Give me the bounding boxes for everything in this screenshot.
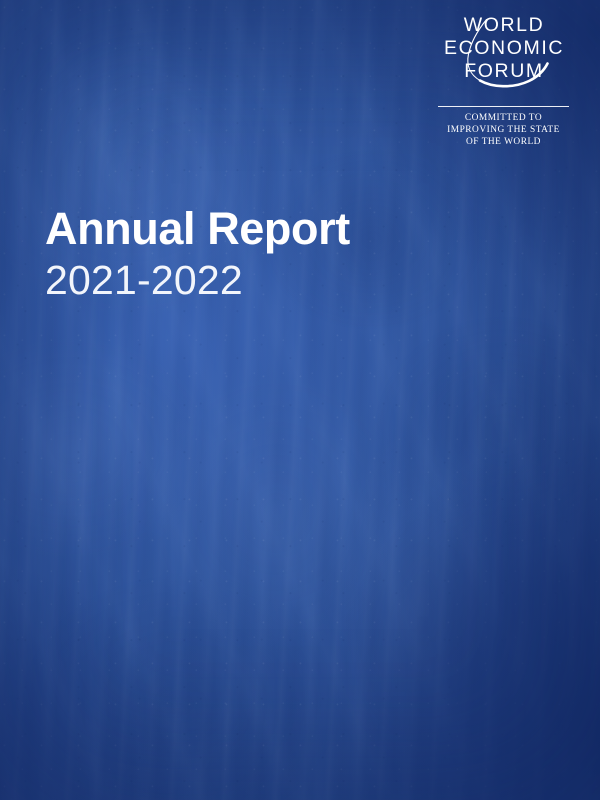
- tagline-line-1: COMMITTED TO: [437, 112, 570, 124]
- wef-logo-wordmark: WORLD ECONOMIC FORUM: [437, 16, 571, 82]
- logo-word-world: WORLD: [437, 16, 571, 36]
- logo-divider-rule: [438, 106, 569, 107]
- cover-title-block: Annual Report 2021-2022: [45, 206, 350, 301]
- page-title: Annual Report: [45, 206, 350, 251]
- logo-tagline: COMMITTED TO IMPROVING THE STATE OF THE …: [437, 112, 570, 149]
- wef-logo: WORLD ECONOMIC FORUM COMMITTED TO IMPROV…: [437, 16, 571, 149]
- report-cover: WORLD ECONOMIC FORUM COMMITTED TO IMPROV…: [0, 0, 600, 800]
- tagline-line-3: OF THE WORLD: [437, 136, 570, 148]
- logo-word-economic: ECONOMIC: [437, 39, 571, 59]
- logo-word-forum: FORUM: [437, 62, 571, 82]
- tagline-line-2: IMPROVING THE STATE: [437, 124, 570, 136]
- wef-logo-mark: WORLD ECONOMIC FORUM: [437, 16, 571, 100]
- page-subtitle: 2021-2022: [45, 260, 350, 301]
